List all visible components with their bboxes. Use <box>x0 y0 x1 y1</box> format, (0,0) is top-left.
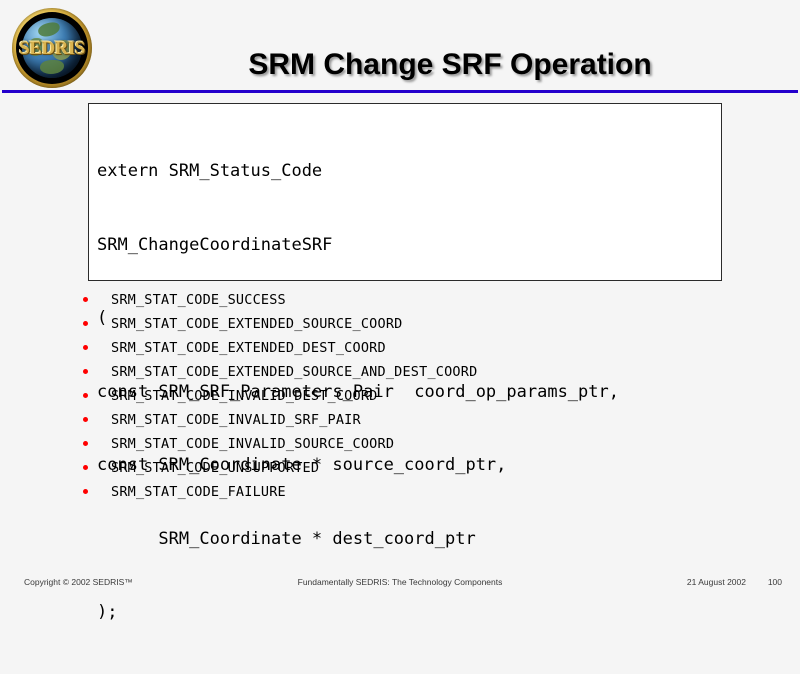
list-item-label: SRM_STAT_CODE_UNSUPPORTED <box>111 456 319 480</box>
list-item: SRM_STAT_CODE_EXTENDED_DEST_COORD <box>78 336 698 360</box>
logo-wordmark: SEDRIS <box>16 38 88 60</box>
list-item-label: SRM_STAT_CODE_EXTENDED_SOURCE_COORD <box>111 312 402 336</box>
header-divider <box>2 90 798 93</box>
slide-header: SEDRIS SRM Change SRF Operation <box>0 0 800 93</box>
list-item-label: SRM_STAT_CODE_EXTENDED_DEST_COORD <box>111 336 386 360</box>
list-item-label: SRM_STAT_CODE_INVALID_SOURCE_COORD <box>111 432 394 456</box>
list-item-label: SRM_STAT_CODE_EXTENDED_SOURCE_AND_DEST_C… <box>111 360 477 384</box>
bullet-icon <box>83 297 88 302</box>
status-code-list: SRM_STAT_CODE_SUCCESS SRM_STAT_CODE_EXTE… <box>78 288 698 504</box>
bullet-icon <box>83 417 88 422</box>
bullet-icon <box>83 465 88 470</box>
bullet-icon <box>83 369 88 374</box>
list-item: SRM_STAT_CODE_INVALID_SOURCE_COORD <box>78 432 698 456</box>
list-item: SRM_STAT_CODE_INVALID_DEST_COORD <box>78 384 698 408</box>
list-item-label: SRM_STAT_CODE_INVALID_SRF_PAIR <box>111 408 361 432</box>
list-item: SRM_STAT_CODE_FAILURE <box>78 480 698 504</box>
code-line: extern SRM_Status_Code <box>97 159 619 184</box>
bullet-icon <box>83 489 88 494</box>
bullet-icon <box>83 441 88 446</box>
list-item-label: SRM_STAT_CODE_FAILURE <box>111 480 286 504</box>
logo-black-disc: SEDRIS <box>16 12 88 84</box>
list-item: SRM_STAT_CODE_INVALID_SRF_PAIR <box>78 408 698 432</box>
slide-footer: Copyright © 2002 SEDRIS™ Fundamentally S… <box>0 572 800 600</box>
bullet-icon <box>83 393 88 398</box>
page-title: SRM Change SRF Operation <box>110 48 790 82</box>
code-block-panel: extern SRM_Status_Code SRM_ChangeCoordin… <box>88 103 722 281</box>
globe-landmass <box>37 21 61 38</box>
footer-page-number: 100 <box>768 577 782 587</box>
list-item-label: SRM_STAT_CODE_SUCCESS <box>111 288 286 312</box>
list-item: SRM_STAT_CODE_SUCCESS <box>78 288 698 312</box>
footer-date: 21 August 2002 <box>687 577 746 587</box>
list-item: SRM_STAT_CODE_EXTENDED_SOURCE_COORD <box>78 312 698 336</box>
globe-landmass <box>40 60 64 74</box>
code-line: SRM_ChangeCoordinateSRF <box>97 233 619 258</box>
bullet-icon <box>83 345 88 350</box>
sedris-globe-logo: SEDRIS <box>10 8 94 88</box>
code-line: ); <box>97 600 619 625</box>
list-item: SRM_STAT_CODE_UNSUPPORTED <box>78 456 698 480</box>
list-item-label: SRM_STAT_CODE_INVALID_DEST_COORD <box>111 384 378 408</box>
bullet-icon <box>83 321 88 326</box>
footer-presentation-title: Fundamentally SEDRIS: The Technology Com… <box>0 577 800 587</box>
code-line: SRM_Coordinate * dest_coord_ptr <box>97 527 619 552</box>
list-item: SRM_STAT_CODE_EXTENDED_SOURCE_AND_DEST_C… <box>78 360 698 384</box>
